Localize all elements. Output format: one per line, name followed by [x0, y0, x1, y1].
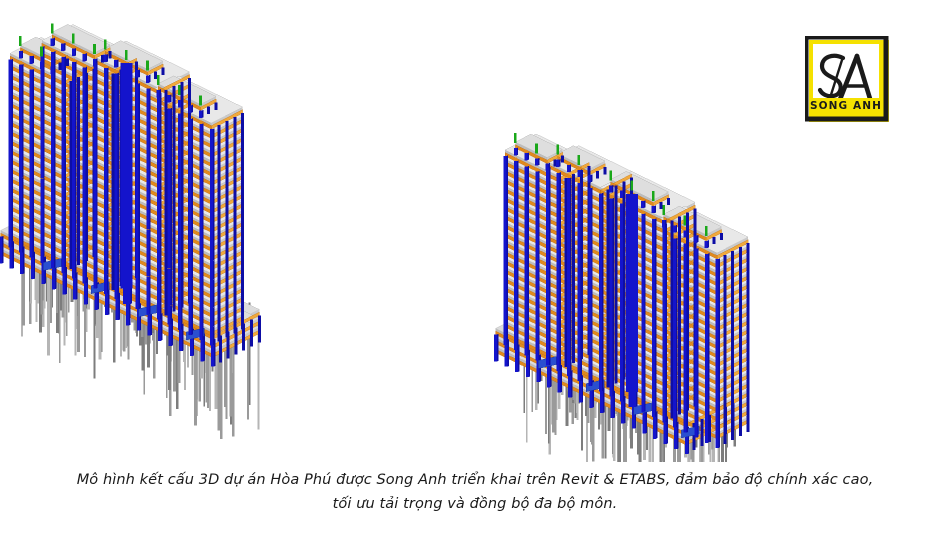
column-side	[97, 291, 98, 301]
column-side	[560, 181, 561, 191]
column-return	[165, 269, 168, 278]
column-side	[161, 322, 162, 332]
column-side	[107, 105, 108, 115]
column-side	[75, 137, 76, 147]
column-side	[139, 215, 140, 225]
column	[189, 119, 192, 128]
column-side	[497, 343, 498, 353]
column-side	[149, 285, 150, 295]
column	[535, 261, 538, 270]
column-side	[139, 280, 140, 290]
column	[588, 332, 591, 341]
column	[104, 237, 107, 246]
column-return	[615, 266, 618, 275]
column-return	[69, 128, 72, 137]
column	[62, 264, 65, 273]
column	[567, 367, 570, 376]
column	[505, 349, 508, 358]
column	[610, 352, 613, 361]
column-side	[160, 272, 161, 282]
column	[19, 159, 22, 168]
column-side	[538, 243, 539, 253]
column	[514, 197, 517, 206]
column-side	[181, 132, 182, 142]
column	[72, 250, 75, 259]
column	[62, 236, 65, 245]
column-side	[581, 209, 582, 219]
column	[588, 368, 591, 377]
column-side	[75, 165, 76, 175]
column	[158, 323, 161, 332]
column	[167, 95, 170, 103]
column	[157, 273, 160, 282]
column-return	[607, 279, 610, 288]
column	[578, 255, 581, 264]
column-side	[549, 239, 550, 249]
column-side	[549, 293, 550, 303]
column-side	[160, 140, 161, 150]
column-side	[192, 231, 193, 241]
column-side	[108, 305, 109, 315]
column-return	[233, 305, 236, 314]
column-return	[69, 100, 72, 109]
column-side	[538, 207, 539, 217]
column	[9, 163, 12, 172]
column-side	[603, 403, 604, 413]
column	[136, 225, 139, 234]
column-side	[149, 154, 150, 164]
column-side	[86, 85, 87, 95]
column-side	[517, 169, 518, 179]
column-return	[241, 132, 244, 141]
column	[504, 174, 507, 183]
column-side	[22, 233, 23, 243]
column	[535, 198, 538, 207]
column	[40, 56, 43, 65]
column	[104, 247, 107, 256]
column	[168, 202, 171, 211]
column-return	[615, 293, 618, 302]
column-side	[171, 286, 172, 296]
column	[83, 86, 86, 95]
column-side	[107, 246, 108, 256]
column-side	[65, 169, 66, 179]
column	[30, 248, 33, 257]
column	[567, 250, 570, 259]
column	[514, 341, 517, 350]
column-side	[149, 210, 150, 220]
column	[504, 300, 507, 309]
column-return	[670, 328, 673, 337]
column	[62, 123, 65, 132]
column	[72, 128, 75, 137]
column-return	[226, 281, 229, 290]
column	[19, 83, 22, 93]
column-side	[688, 436, 689, 446]
column-return	[607, 216, 610, 225]
column	[514, 314, 517, 323]
column	[83, 265, 86, 274]
column-return	[615, 374, 618, 383]
column-side	[22, 111, 23, 121]
column	[40, 112, 43, 121]
column-side	[560, 334, 561, 344]
column	[557, 227, 560, 236]
column	[115, 233, 118, 242]
column-side	[43, 253, 44, 263]
column-return	[165, 193, 168, 202]
column	[136, 112, 139, 121]
column	[72, 213, 75, 222]
column	[146, 202, 149, 211]
column	[136, 121, 139, 130]
column-side	[560, 289, 561, 299]
column	[115, 120, 118, 129]
column-side	[139, 224, 140, 234]
column	[178, 302, 181, 311]
column-side	[54, 239, 55, 249]
column-side	[549, 302, 550, 312]
column	[51, 259, 54, 268]
column-return	[561, 156, 564, 163]
column-return	[241, 198, 244, 207]
column	[525, 310, 528, 319]
column	[104, 228, 107, 237]
column-side	[528, 319, 529, 329]
column-side	[13, 250, 14, 260]
column	[578, 237, 581, 246]
column	[157, 301, 160, 310]
column	[9, 88, 12, 97]
column	[178, 189, 181, 198]
column-side	[65, 103, 66, 113]
column	[599, 256, 602, 265]
column-side	[181, 216, 182, 226]
column	[19, 196, 22, 205]
column-side	[22, 158, 23, 168]
column	[620, 267, 623, 276]
column-side	[213, 213, 214, 223]
column	[588, 323, 591, 332]
column	[514, 287, 517, 296]
column-return	[670, 274, 673, 283]
column	[641, 340, 644, 349]
column	[136, 206, 139, 215]
column	[588, 260, 591, 269]
column	[525, 319, 528, 328]
column	[146, 286, 149, 295]
column-side	[171, 164, 172, 174]
column-return	[678, 405, 681, 414]
column	[9, 238, 12, 247]
column-side	[118, 129, 119, 139]
column-return	[233, 136, 236, 145]
column-side	[160, 225, 161, 235]
column	[83, 180, 86, 189]
column-side	[591, 269, 592, 279]
column	[51, 193, 54, 202]
column	[494, 353, 497, 362]
column	[190, 338, 193, 347]
column	[9, 97, 12, 106]
column-return	[258, 316, 261, 325]
column-side	[560, 280, 561, 290]
column	[146, 136, 149, 145]
column-side	[96, 250, 97, 260]
column-side	[96, 213, 97, 223]
column	[210, 280, 213, 289]
column-side	[213, 175, 214, 185]
column	[115, 73, 118, 82]
column-return	[226, 140, 229, 149]
column	[146, 75, 149, 83]
column	[51, 80, 54, 89]
column-side	[550, 378, 551, 388]
column	[51, 202, 54, 211]
column-side	[644, 402, 645, 412]
column-return	[678, 360, 681, 369]
column	[610, 271, 613, 280]
column	[504, 201, 507, 210]
column-return	[670, 292, 673, 301]
column-side	[591, 188, 592, 198]
column-return	[173, 293, 176, 302]
column-side	[613, 297, 614, 307]
column-return	[564, 187, 567, 196]
column-side	[570, 177, 571, 187]
column	[641, 331, 644, 340]
column	[9, 210, 12, 219]
column-side	[549, 257, 550, 267]
column-return	[112, 130, 115, 139]
column-side	[171, 183, 172, 193]
column-side	[54, 108, 55, 118]
column	[504, 210, 507, 219]
column	[19, 177, 22, 186]
column	[610, 361, 613, 370]
column-side	[96, 194, 97, 204]
column-side	[43, 74, 44, 84]
column-side	[656, 429, 657, 439]
column	[20, 265, 23, 274]
column-side	[623, 392, 624, 402]
column-side	[117, 59, 118, 67]
column-return	[77, 152, 80, 162]
column	[578, 345, 581, 354]
column-side	[118, 223, 119, 233]
column-return	[258, 334, 261, 343]
column-side	[549, 320, 550, 330]
column	[664, 426, 667, 435]
column	[641, 403, 644, 412]
column	[210, 176, 213, 185]
column-side	[75, 118, 76, 128]
column	[72, 90, 75, 99]
column-side	[181, 235, 182, 245]
column	[546, 330, 549, 339]
column	[178, 208, 181, 217]
column-side	[75, 249, 76, 259]
column-return	[112, 205, 115, 214]
column-side	[538, 216, 539, 226]
column-side	[86, 104, 87, 114]
column-side	[181, 226, 182, 236]
column-return	[226, 290, 229, 299]
column-side	[570, 213, 571, 223]
column	[535, 324, 538, 333]
column	[72, 81, 75, 90]
column-return	[69, 250, 72, 259]
column-return	[564, 349, 567, 358]
column	[535, 207, 538, 216]
column	[157, 103, 160, 112]
column	[94, 292, 97, 301]
column	[72, 109, 75, 118]
column-side	[192, 268, 193, 278]
column	[525, 283, 528, 292]
column-side	[202, 142, 203, 152]
column-side	[570, 249, 571, 259]
column-return	[241, 235, 244, 244]
column	[189, 241, 192, 250]
column-side	[96, 81, 97, 91]
column	[19, 51, 22, 59]
column-side	[517, 196, 518, 206]
column-return	[604, 167, 607, 174]
column-return	[607, 207, 610, 216]
column	[189, 213, 192, 222]
column-side	[549, 176, 550, 186]
column-side	[623, 338, 624, 348]
column-side	[591, 233, 592, 243]
column	[189, 203, 192, 212]
column	[93, 279, 96, 288]
column-return	[233, 249, 236, 258]
column	[579, 385, 582, 394]
column-side	[33, 191, 34, 201]
column	[588, 305, 591, 314]
column	[641, 313, 644, 322]
column-side	[644, 294, 645, 304]
column-side	[96, 147, 97, 157]
column-side	[623, 293, 624, 303]
column-return	[173, 274, 176, 283]
column-return	[233, 127, 236, 136]
column-return	[188, 97, 191, 106]
column-side	[75, 48, 76, 56]
column	[525, 328, 528, 337]
column-return	[112, 149, 115, 158]
column-side	[171, 117, 172, 127]
column	[557, 263, 560, 272]
column-side	[43, 206, 44, 216]
column-side	[86, 132, 87, 142]
column	[641, 358, 644, 367]
column-side	[107, 190, 108, 200]
column-side	[171, 202, 172, 212]
column-side	[54, 126, 55, 136]
column-side	[570, 258, 571, 268]
column	[136, 159, 139, 168]
column	[72, 166, 75, 175]
column-side	[139, 121, 140, 131]
column	[168, 306, 171, 315]
column-return	[241, 226, 244, 235]
column-return	[227, 350, 230, 359]
column-side	[171, 221, 172, 231]
column	[19, 206, 22, 215]
column-side	[613, 360, 614, 370]
column-return	[670, 301, 673, 310]
column-side	[203, 352, 204, 362]
column	[72, 147, 75, 156]
column-side	[96, 222, 97, 232]
column-side	[591, 260, 592, 270]
column	[105, 306, 108, 315]
column	[115, 271, 118, 280]
column-return	[700, 437, 703, 446]
column	[158, 332, 161, 341]
column-side	[623, 284, 624, 294]
column	[588, 215, 591, 224]
column	[83, 199, 86, 208]
column-return	[165, 306, 168, 315]
column	[599, 337, 602, 346]
column	[19, 140, 22, 149]
column-side	[139, 92, 140, 102]
column-return	[607, 270, 610, 279]
column-return	[670, 346, 673, 355]
column-side	[560, 325, 561, 335]
column-side	[181, 310, 182, 320]
column	[525, 238, 528, 247]
column-return	[250, 329, 253, 338]
column-side	[182, 341, 183, 351]
column	[83, 227, 86, 236]
column	[514, 260, 517, 269]
column-side	[96, 175, 97, 185]
column-side	[517, 322, 518, 332]
column	[567, 349, 570, 358]
column	[9, 69, 12, 78]
column	[189, 279, 192, 288]
column-side	[65, 188, 66, 198]
column-side	[192, 212, 193, 222]
column-return	[112, 215, 115, 224]
column-side	[507, 218, 508, 228]
column-return	[112, 252, 115, 261]
column	[62, 189, 65, 198]
column	[123, 295, 131, 304]
column-side	[75, 193, 76, 203]
column-side	[160, 197, 161, 207]
column-side	[54, 89, 55, 99]
column-return	[233, 211, 236, 220]
column	[157, 197, 160, 206]
column-side	[613, 378, 614, 388]
column-return	[607, 261, 610, 270]
column-side	[602, 355, 603, 365]
column	[136, 178, 139, 187]
column	[578, 210, 581, 219]
column-side	[22, 64, 23, 74]
column-return	[607, 225, 610, 234]
column-side	[87, 286, 88, 296]
column-side	[570, 357, 571, 367]
column-side	[570, 285, 571, 295]
column	[51, 183, 54, 192]
column-side	[139, 243, 140, 253]
